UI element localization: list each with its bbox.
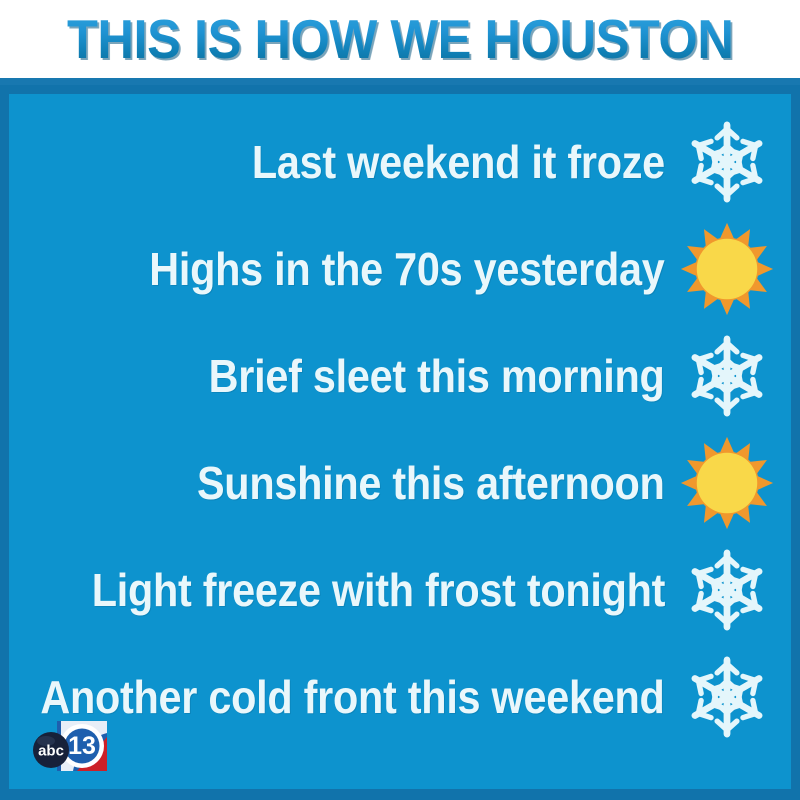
weather-row: Highs in the 70s yesterday [9, 215, 775, 322]
weather-row-text: Sunshine this afternoon [197, 458, 665, 508]
snowflake-icon [679, 649, 775, 745]
weather-row-text: Another cold front this weekend [41, 672, 665, 722]
weather-row: Sunshine this afternoon [9, 429, 775, 536]
logo-abc-text: abc [38, 743, 64, 760]
weather-row-text: Brief sleet this morning [209, 351, 665, 401]
snowflake-icon [679, 328, 775, 424]
content-panel: Last weekend it frozeHighs in the 70s ye… [9, 94, 791, 789]
weather-row-text: Light freeze with frost tonight [92, 565, 665, 615]
snowflake-icon [679, 114, 775, 210]
weather-row-text: Last weekend it froze [252, 137, 665, 187]
header-divider [0, 78, 800, 85]
sun-icon [679, 221, 775, 317]
weather-row: Brief sleet this morning [9, 322, 775, 429]
snowflake-icon [679, 542, 775, 638]
content-frame: Last weekend it frozeHighs in the 70s ye… [0, 85, 800, 800]
weather-row: Light freeze with frost tonight [9, 536, 775, 643]
abc13-logo[interactable]: 13 abc [31, 719, 127, 773]
weather-graphic: THIS IS HOW WE HOUSTON Last weekend it f… [0, 0, 800, 800]
sun-icon [679, 435, 775, 531]
weather-row-text: Highs in the 70s yesterday [150, 244, 665, 294]
page-title: THIS IS HOW WE HOUSTON [67, 10, 733, 68]
weather-list: Last weekend it frozeHighs in the 70s ye… [9, 94, 791, 750]
header-banner: THIS IS HOW WE HOUSTON [0, 0, 800, 78]
logo-channel-number: 13 [68, 732, 96, 760]
weather-row: Last weekend it froze [9, 108, 775, 215]
